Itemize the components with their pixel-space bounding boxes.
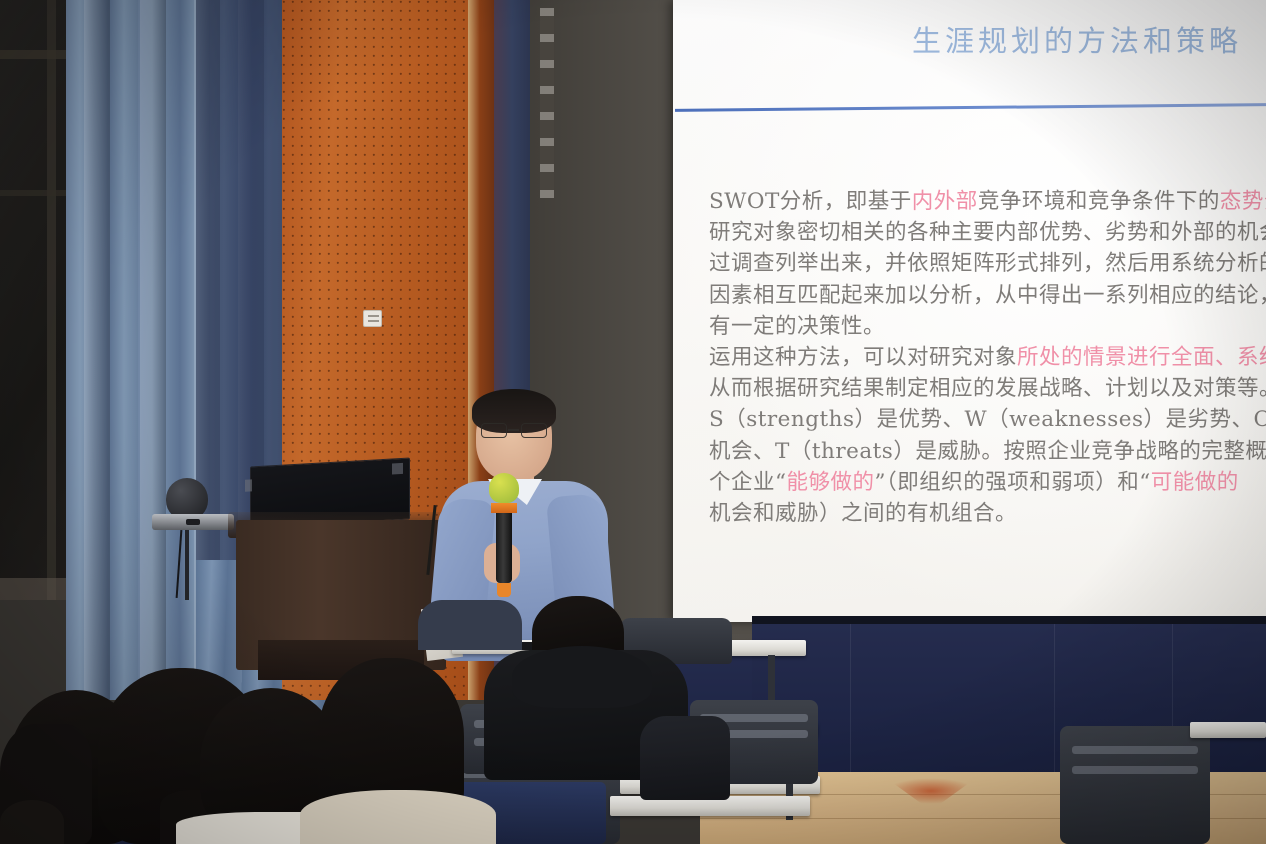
desk-far-right (1190, 722, 1266, 738)
slide-text: 从而根据研究结果制定相应的发展战略、计划以及对策等。 (709, 376, 1266, 401)
slide-text: S（strengths）是优势、W（weaknesses）是劣势、O（opp (709, 407, 1266, 432)
slide-line-2: 研究对象密切相关的各种主要内部优势、劣势和外部的机会 (709, 217, 1266, 248)
slide-line-10: 个企业“能够做的”（即组织的强项和弱项）和“可能做的 (709, 467, 1266, 498)
microphone-tip (497, 583, 511, 597)
microphone-body (496, 513, 512, 583)
slide-line-1: SWOT分析，即基于内外部竞争环境和竞争条件下的态势分 (709, 186, 1266, 217)
slide-line-5: 有一定的决策性。 (709, 311, 1266, 342)
slide-text: 竞争环境和竞争条件下的 (978, 189, 1220, 214)
slide-line-8: S（strengths）是优势、W（weaknesses）是劣势、O（opp (709, 404, 1266, 435)
slide-title: 生涯规划的方法和策略 (682, 18, 1242, 60)
laptop-hinge (245, 479, 252, 491)
slide-highlight: 能够做的 (787, 470, 875, 495)
slide-line-7: 从而根据研究结果制定相应的发展战略、计划以及对策等。 (709, 373, 1266, 404)
slide-text: 因素相互匹配起来加以分析，从中得出一系列相应的结论， (709, 283, 1266, 308)
slide-text: 过调查列举出来，并依照矩阵形式排列，然后用系统分析的 (709, 251, 1266, 276)
glasses-icon (480, 423, 548, 438)
microphone-ring (491, 503, 517, 513)
slide-highlight: 所处的情景进行全面、系统 (1017, 345, 1266, 370)
slide-line-6: 运用这种方法，可以对研究对象所处的情景进行全面、系统 (709, 342, 1266, 373)
slide-highlight: 态势分 (1220, 189, 1266, 214)
slide-body-text: SWOT分析，即基于内外部竞争环境和竞争条件下的态势分研究对象密切相关的各种主要… (709, 186, 1266, 529)
ptz-camera-body (152, 514, 234, 530)
student-torso-6 (418, 600, 522, 650)
slide-text: 运用这种方法，可以对研究对象 (709, 345, 1017, 370)
camera-lens-icon (186, 519, 200, 525)
slide-highlight: 内外部 (912, 189, 978, 214)
student-hood-5 (512, 646, 652, 708)
slide-text: 机会、T（threats）是威胁。按照企业竞争战略的完整概念 (709, 439, 1266, 464)
slide-text: 有一定的决策性。 (709, 314, 885, 339)
ceiling-vent-slats (540, 8, 554, 198)
slide-line-3: 过调查列举出来，并依照矩阵形式排列，然后用系统分析的 (709, 248, 1266, 279)
chair-row2-far-right (1060, 726, 1210, 844)
power-outlet (363, 310, 382, 327)
lecture-hall-photo: 生涯规划的方法和策略 SWOT分析，即基于内外部竞争环境和竞争条件下的态势分研究… (0, 0, 1266, 844)
window-mullion-vertical (47, 0, 56, 600)
slide-line-4: 因素相互匹配起来加以分析，从中得出一系列相应的结论， (709, 280, 1266, 311)
slide-line-9: 机会、T（threats）是威胁。按照企业竞争战略的完整概念 (709, 436, 1266, 467)
student-torso-7 (640, 716, 730, 800)
slide-line-11: 机会和威胁）之间的有机组合。 (709, 498, 1266, 529)
slide-text: 机会和威胁）之间的有机组合。 (709, 501, 1017, 526)
projection-screen: 生涯规划的方法和策略 SWOT分析，即基于内外部竞争环境和竞争条件下的态势分研究… (673, 0, 1266, 622)
slide-text: ”（即组织的强项和弱项）和“ (875, 470, 1151, 495)
microphone (489, 473, 519, 597)
student-shoulders-4 (300, 790, 496, 844)
slide-divider-rule (675, 103, 1266, 112)
microphone-head (489, 473, 519, 503)
student-head-8 (0, 800, 64, 844)
slide-text: 研究对象密切相关的各种主要内部优势、劣势和外部的机会 (709, 220, 1266, 245)
laptop-badge (392, 463, 403, 475)
slide-text: 个企业“ (709, 470, 787, 495)
slide-text: SWOT分析，即基于 (709, 189, 912, 214)
slide-highlight: 可能做的 (1151, 470, 1239, 495)
camera-stand-pole (185, 530, 189, 600)
